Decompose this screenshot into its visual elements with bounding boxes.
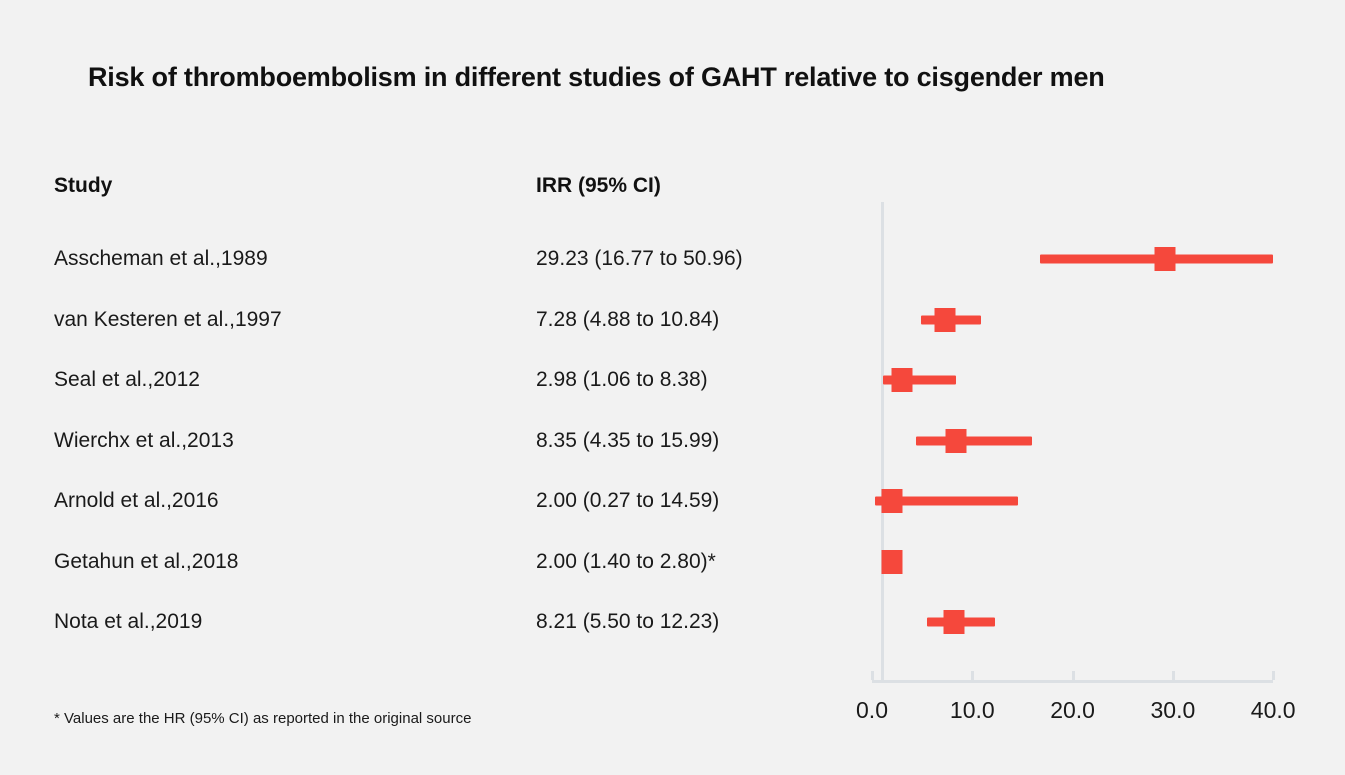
study-label: van Kesteren et al.,1997 — [54, 309, 282, 330]
point-estimate-marker — [935, 308, 956, 332]
forest-plot-figure: Risk of thromboembolism in different stu… — [0, 0, 1345, 775]
effect-value: 8.35 (4.35 to 15.99) — [536, 430, 719, 451]
x-axis-tick — [1272, 671, 1275, 680]
point-estimate-marker — [882, 489, 903, 513]
confidence-interval-bar — [921, 316, 981, 325]
study-label: Arnold et al.,2016 — [54, 490, 219, 511]
column-header-effect: IRR (95% CI) — [536, 174, 661, 198]
point-estimate-marker — [944, 610, 965, 634]
study-label: Seal et al.,2012 — [54, 369, 200, 390]
point-estimate-marker — [891, 368, 912, 392]
confidence-interval-bar — [875, 497, 1019, 506]
effect-value: 2.98 (1.06 to 8.38) — [536, 369, 708, 390]
effect-value: 29.23 (16.77 to 50.96) — [536, 248, 743, 269]
x-axis-tick — [971, 671, 974, 680]
point-estimate-marker — [882, 550, 903, 574]
study-label: Wierchx et al.,2013 — [54, 430, 234, 451]
x-axis-tick-label: 40.0 — [1251, 697, 1296, 724]
x-axis-tick — [871, 671, 874, 680]
point-estimate-marker — [1155, 247, 1176, 271]
x-axis-tick — [1172, 671, 1175, 680]
effect-value: 2.00 (0.27 to 14.59) — [536, 490, 719, 511]
page-title: Risk of thromboembolism in different stu… — [88, 62, 1105, 93]
effect-value: 2.00 (1.40 to 2.80)* — [536, 551, 716, 572]
study-label: Getahun et al.,2018 — [54, 551, 238, 572]
footnote: * Values are the HR (95% CI) as reported… — [54, 710, 471, 727]
confidence-interval-bar — [883, 376, 956, 385]
confidence-interval-bar — [927, 618, 995, 627]
x-axis-tick — [1072, 671, 1075, 680]
x-axis-tick-label: 20.0 — [1050, 697, 1095, 724]
confidence-interval-bar — [1040, 255, 1273, 264]
study-label: Asscheman et al.,1989 — [54, 248, 268, 269]
x-axis-line — [872, 680, 1273, 683]
x-axis-tick-label: 0.0 — [856, 697, 888, 724]
reference-line — [881, 202, 884, 680]
confidence-interval-bar — [916, 437, 1033, 446]
study-label: Nota et al.,2019 — [54, 611, 202, 632]
point-estimate-marker — [945, 429, 966, 453]
confidence-interval-bar — [886, 558, 900, 567]
effect-value: 8.21 (5.50 to 12.23) — [536, 611, 719, 632]
x-axis-tick-label: 10.0 — [950, 697, 995, 724]
effect-value: 7.28 (4.88 to 10.84) — [536, 309, 719, 330]
x-axis-tick-label: 30.0 — [1151, 697, 1196, 724]
column-header-study: Study — [54, 174, 112, 198]
